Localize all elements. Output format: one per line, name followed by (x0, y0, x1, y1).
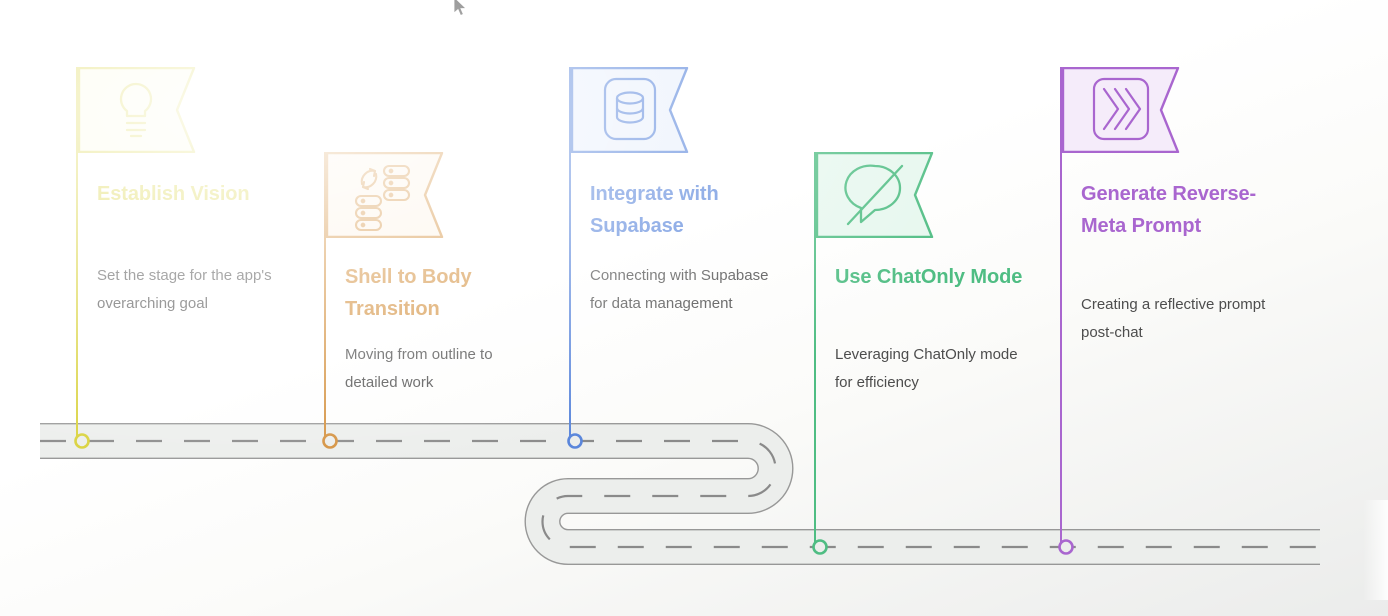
milestone-title: Establish Vision (97, 178, 287, 210)
flag-banner (1062, 67, 1180, 153)
milestone-title: Use ChatOnly Mode (835, 261, 1025, 293)
flag-banner (326, 152, 444, 238)
flag-banner (571, 67, 689, 153)
flag-banner (816, 152, 934, 238)
milestone-description: Leveraging ChatOnly mode for efficiency (835, 341, 1030, 397)
milestone-title: Integrate with Supabase (590, 178, 780, 242)
roadmap-canvas: Establish Vision Set the stage for the a… (0, 0, 1388, 616)
milestone-description: Creating a reflective prompt post-chat (1081, 291, 1276, 347)
road-surface-inner (40, 441, 1320, 547)
road-fade-right (1180, 500, 1388, 600)
milestone-title: Generate Reverse-Meta Prompt (1081, 178, 1271, 242)
milestone-description: Connecting with Supabase for data manage… (590, 262, 785, 318)
milestone-description: Set the stage for the app's overarching … (97, 262, 292, 318)
milestone-description: Moving from outline to detailed work (345, 341, 540, 397)
flag-banner (78, 67, 196, 153)
milestone-title: Shell to Body Transition (345, 261, 535, 325)
